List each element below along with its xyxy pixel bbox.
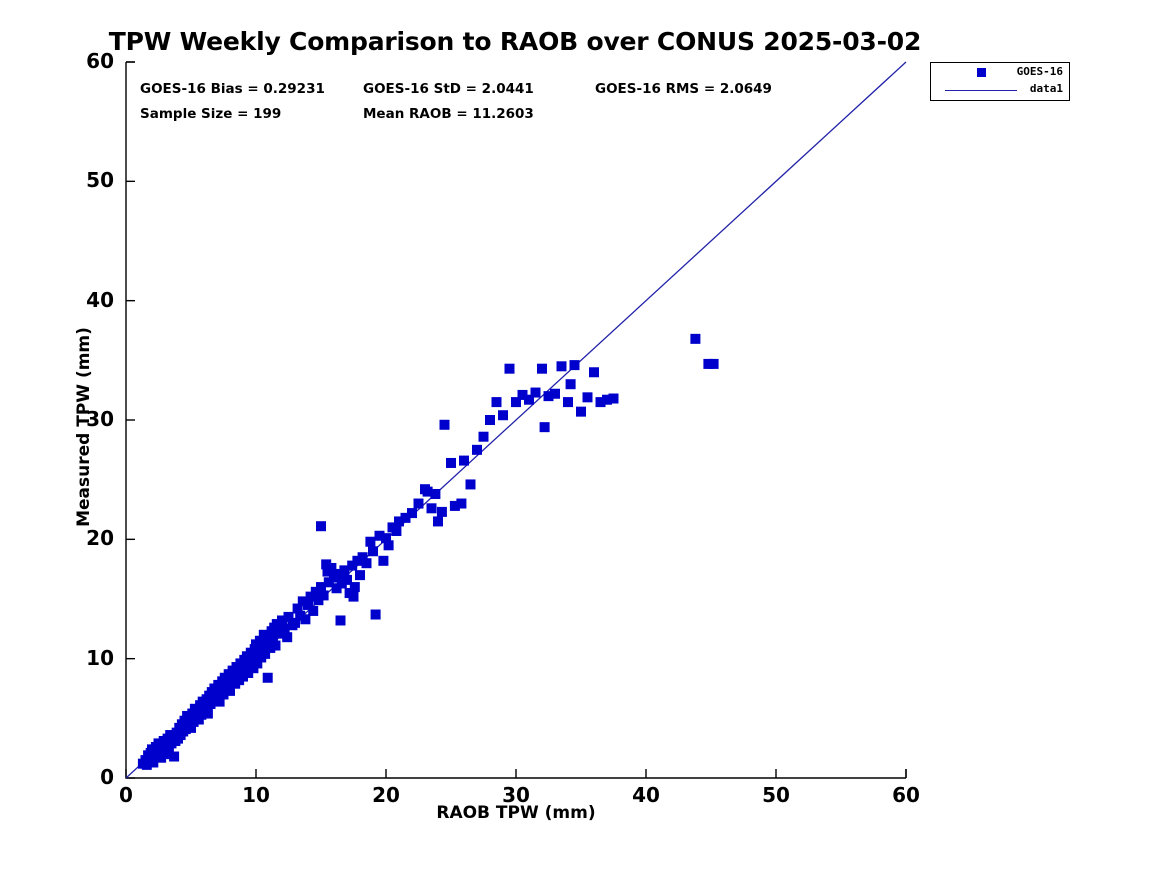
legend-line-marker-icon xyxy=(945,90,1017,91)
legend-square-marker-icon xyxy=(977,68,986,77)
x-axis-label: RAOB TPW (mm) xyxy=(126,803,906,823)
plot-area xyxy=(0,0,1167,875)
y-tick-label: 60 xyxy=(68,49,114,73)
legend-label-goes16: GOES-16 xyxy=(1017,65,1063,78)
legend-item-goes16: GOES-16 xyxy=(931,64,1069,82)
y-axis-label: Measured TPW (mm) xyxy=(74,177,94,677)
scatter-points xyxy=(138,334,719,770)
chart-figure: TPW Weekly Comparison to RAOB over CONUS… xyxy=(0,0,1167,875)
legend-item-data1: data1 xyxy=(931,81,1069,99)
legend-label-data1: data1 xyxy=(1030,82,1063,95)
legend: GOES-16 data1 xyxy=(930,62,1070,101)
